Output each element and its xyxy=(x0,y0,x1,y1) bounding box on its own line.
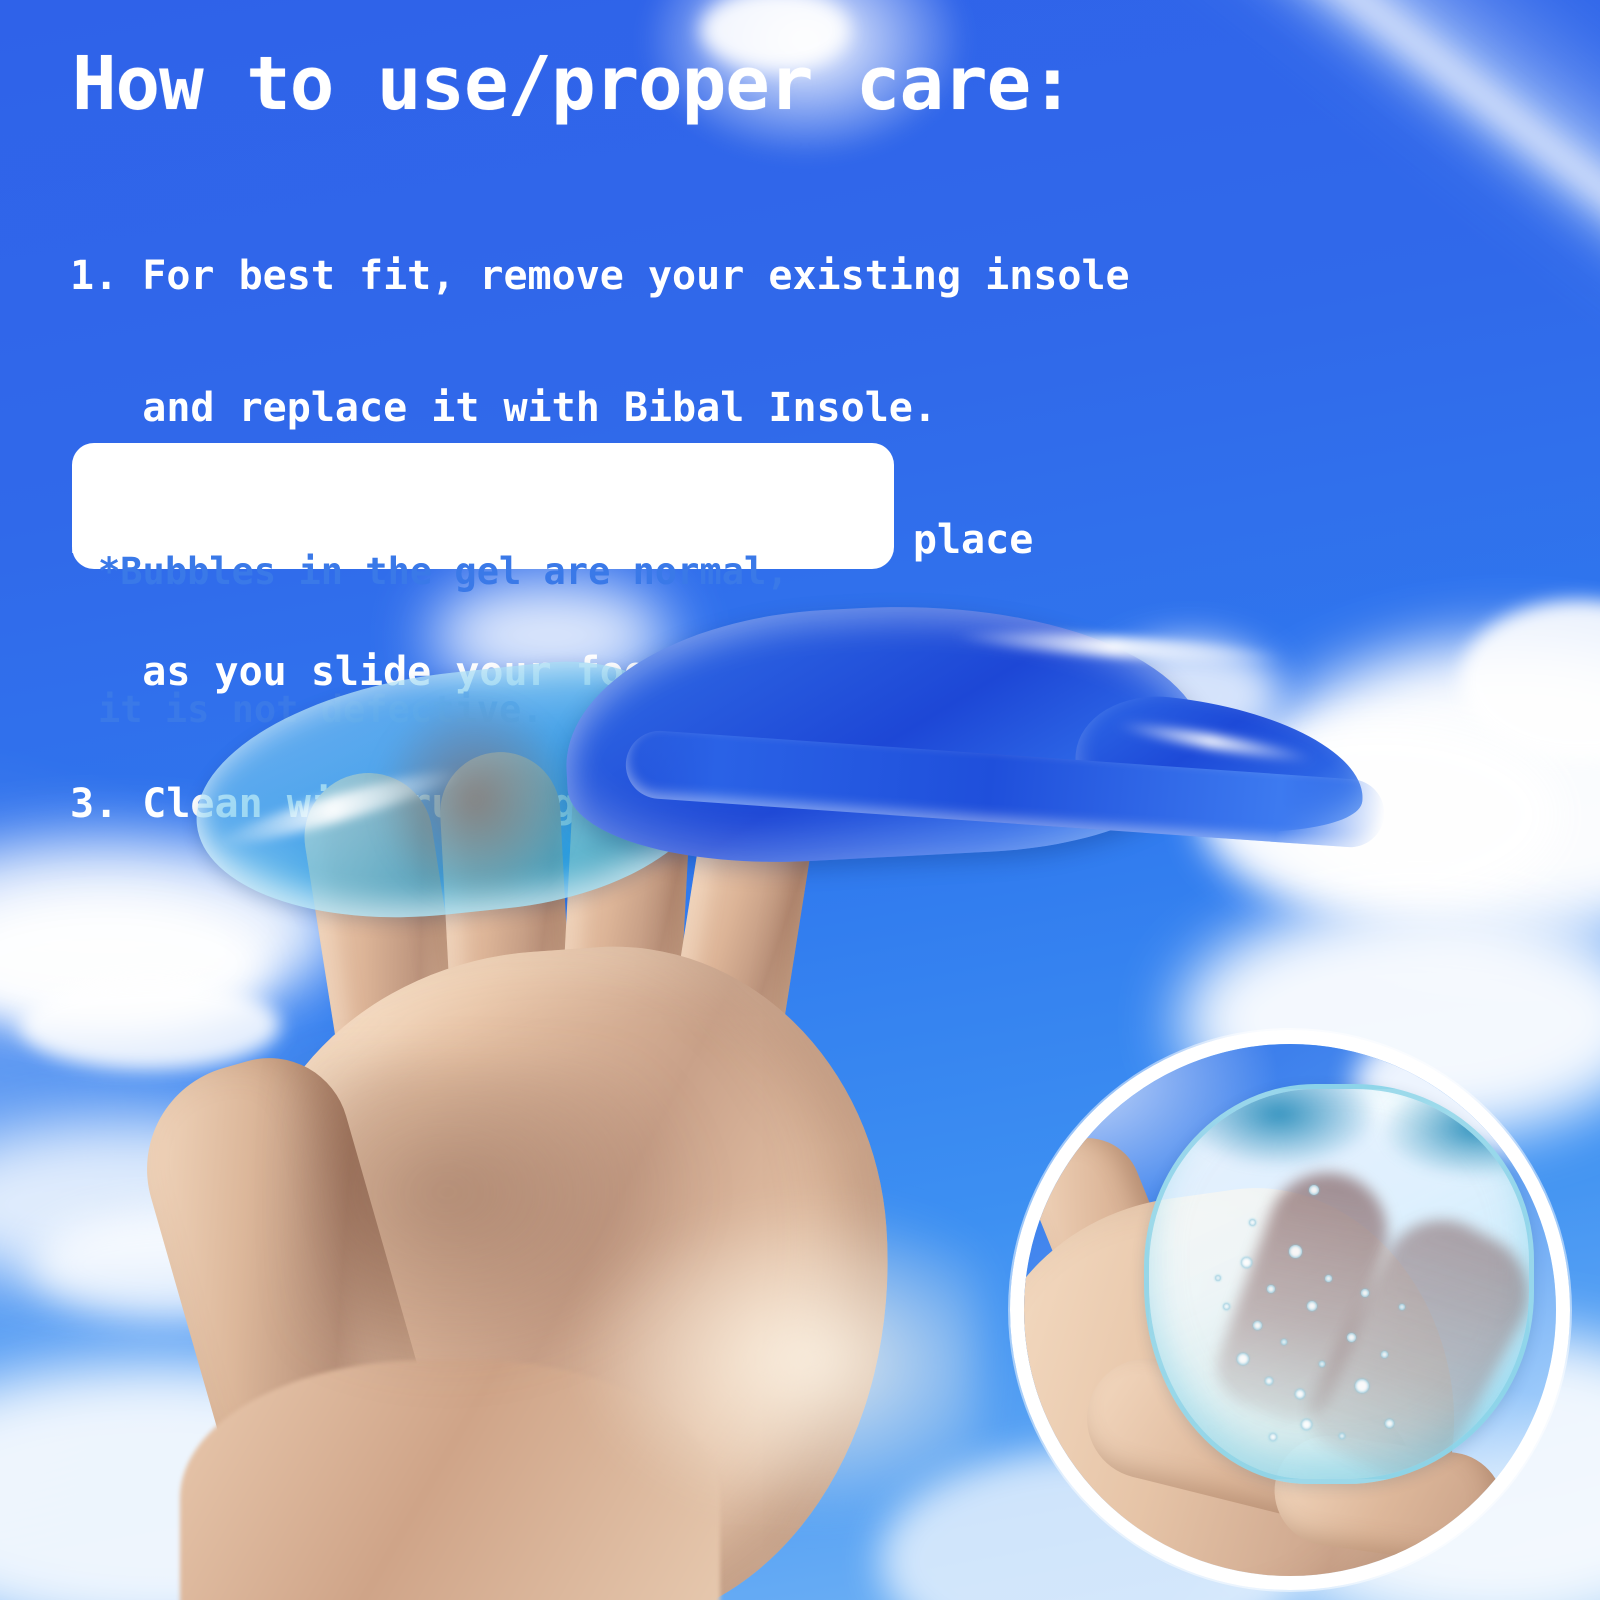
instruction-line-1: 1. For best fit, remove your existing in… xyxy=(70,254,1130,298)
page-title: How to use/proper care: xyxy=(72,44,1074,124)
inset-gel-dark-edge-left xyxy=(1179,1084,1379,1169)
gel-bubble xyxy=(1237,1353,1249,1365)
gel-bubble xyxy=(1319,1361,1325,1367)
gel-bubble xyxy=(1355,1379,1369,1393)
gel-bubble xyxy=(1399,1304,1405,1310)
instruction-line-2: and replace it with Bibal Insole. xyxy=(70,386,1130,430)
gel-bubble xyxy=(1347,1333,1356,1342)
gel-bubble xyxy=(1267,1285,1275,1293)
gel-bubble xyxy=(1381,1351,1388,1358)
gel-bubble xyxy=(1361,1289,1369,1297)
inset-gel-insole xyxy=(1144,1084,1534,1484)
gel-bubble xyxy=(1295,1389,1305,1399)
gel-bubble xyxy=(1215,1275,1221,1281)
gel-bubble xyxy=(1253,1321,1262,1330)
gel-bubble xyxy=(1281,1339,1287,1345)
gel-bubble xyxy=(1249,1219,1256,1226)
closeup-inset-circle xyxy=(1010,1030,1570,1590)
gel-bubble xyxy=(1223,1303,1230,1310)
palm-highlight xyxy=(560,1190,980,1530)
gel-bubble xyxy=(1289,1245,1302,1258)
gel-bubble xyxy=(1309,1185,1319,1195)
gel-bubble xyxy=(1385,1419,1394,1428)
gel-bubble xyxy=(1301,1419,1312,1430)
gel-bubble xyxy=(1339,1433,1345,1439)
gel-bubble xyxy=(1325,1275,1332,1282)
gel-bubble xyxy=(1307,1301,1317,1311)
infographic-page: How to use/proper care: 1. For best fit,… xyxy=(0,0,1600,1600)
gel-bubble xyxy=(1269,1433,1277,1441)
gel-bubble xyxy=(1265,1377,1273,1385)
gel-bubble xyxy=(1241,1257,1252,1268)
inset-gel-dark-edge-right xyxy=(1379,1084,1534,1179)
gel-insole-product xyxy=(195,585,1355,915)
